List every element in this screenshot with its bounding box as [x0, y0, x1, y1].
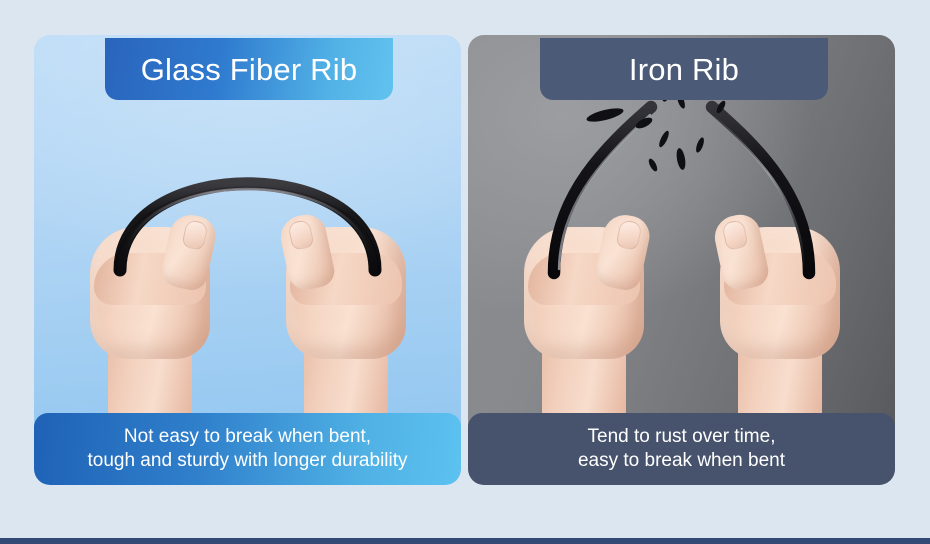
title-label-glass-fiber: Glass Fiber Rib — [141, 54, 358, 85]
caption-bar-glass-fiber: Not easy to break when bent, tough and s… — [34, 413, 461, 485]
rib-fragment-left — [554, 107, 651, 273]
rib-fragment-right — [712, 107, 809, 273]
footer-accent-bar — [0, 538, 930, 544]
panel-glass-fiber: Glass Fiber Rib Not easy to break when b… — [34, 35, 461, 485]
title-badge-glass-fiber: Glass Fiber Rib — [105, 38, 393, 100]
title-badge-iron: Iron Rib — [540, 38, 828, 100]
comparison-stage: Glass Fiber Rib Not easy to break when b… — [0, 0, 930, 544]
caption-bar-iron: Tend to rust over time, easy to break wh… — [468, 413, 895, 485]
caption-text-iron: Tend to rust over time, easy to break wh… — [578, 425, 785, 472]
caption-text-glass-fiber: Not easy to break when bent, tough and s… — [87, 425, 407, 472]
title-label-iron: Iron Rib — [629, 54, 739, 85]
panel-iron: Iron Rib Tend to rust over time, easy to… — [468, 35, 895, 485]
